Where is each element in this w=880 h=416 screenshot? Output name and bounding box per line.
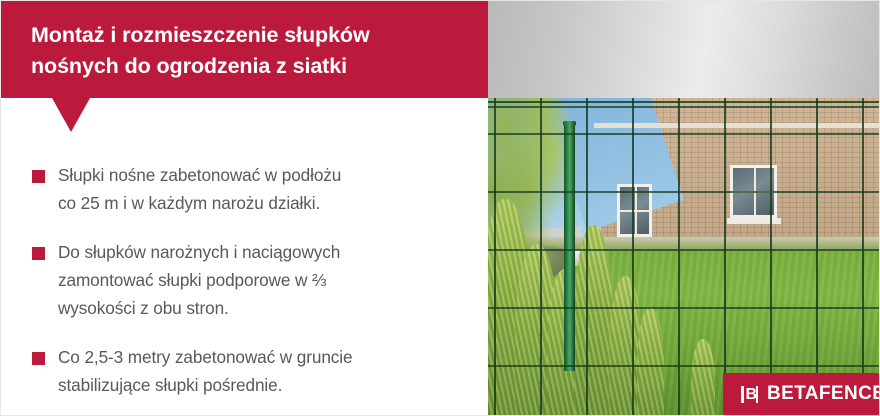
fence-photo (488, 98, 879, 415)
header-banner: Montaż i rozmieszczenie słupków nośnych … (1, 1, 488, 98)
bullet-square-icon (32, 170, 45, 183)
mesh-top-wire (488, 101, 879, 103)
top-gradient-band (488, 1, 879, 98)
list-item: Słupki nośne zabetonować w podłożu co 25… (32, 161, 457, 217)
brand-logo: B BETAFENCE (723, 373, 879, 415)
logo-letter: B (746, 386, 754, 403)
brand-name: BETAFENCE (767, 383, 880, 405)
logo-bar-right (756, 386, 759, 403)
bullet-list: Słupki nośne zabetonować w podłożu co 25… (32, 161, 457, 399)
page-title: Montaż i rozmieszczenie słupków nośnych … (31, 20, 471, 82)
welded-mesh-fence (488, 98, 879, 415)
header-pointer-triangle (52, 98, 90, 132)
bullet-square-icon (32, 352, 45, 365)
bullet-square-icon (32, 247, 45, 260)
list-item-label: Słupki nośne zabetonować w podłożu co 25… (58, 165, 341, 213)
list-item: Do słupków narożnych i naciągowych zamon… (32, 238, 457, 322)
list-item: Co 2,5-3 metry zabetonować w gruncie sta… (32, 343, 457, 399)
betafence-mark-icon: B (741, 386, 758, 403)
fence-photo-scene (488, 98, 879, 415)
infographic-slide: Montaż i rozmieszczenie słupków nośnych … (0, 0, 880, 416)
logo-bar-left (741, 386, 744, 403)
list-item-label: Co 2,5-3 metry zabetonować w gruncie sta… (58, 347, 352, 395)
list-item-label: Do słupków narożnych i naciągowych zamon… (58, 242, 340, 318)
